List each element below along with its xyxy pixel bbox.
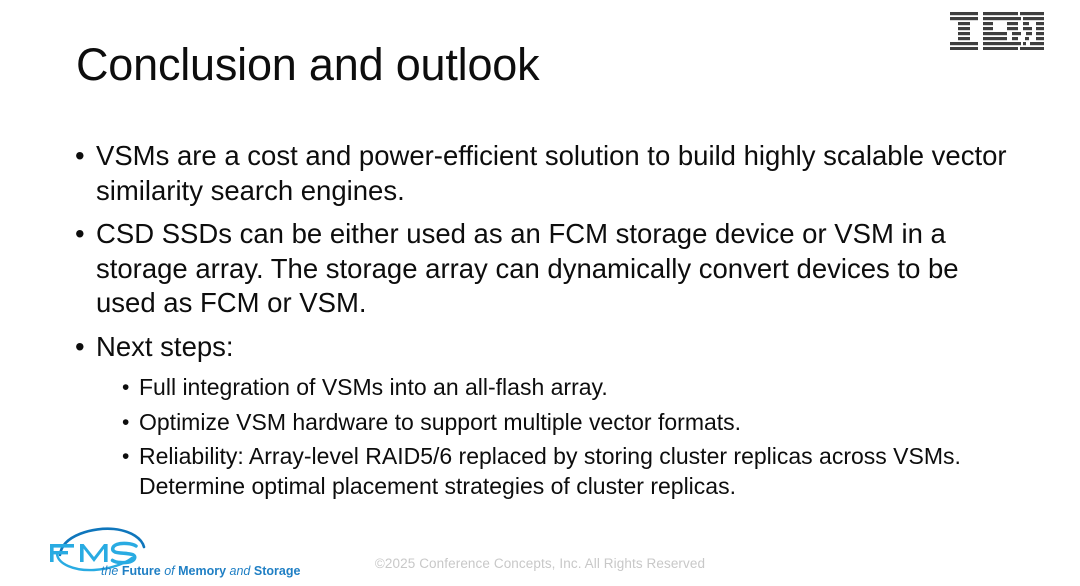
bullet-item: • VSMs are a cost and power-efficient so… xyxy=(70,139,1020,208)
slide-body: • VSMs are a cost and power-efficient so… xyxy=(70,139,1020,506)
bullet-text: CSD SSDs can be either used as an FCM st… xyxy=(96,218,959,318)
sub-bullet-item: • Full integration of VSMs into an all-f… xyxy=(70,373,1020,403)
page-title: Conclusion and outlook xyxy=(76,40,539,90)
sub-bullet-text: Reliability: Array-level RAID5/6 replace… xyxy=(139,443,961,499)
slide-canvas: Conclusion and outlook • VSMs are a cost… xyxy=(0,0,1080,586)
bullet-marker-icon: • xyxy=(75,330,85,365)
bullet-item: • CSD SSDs can be either used as an FCM … xyxy=(70,217,1020,321)
bullet-marker-icon: • xyxy=(75,139,85,174)
sub-bullet-item: • Optimize VSM hardware to support multi… xyxy=(70,408,1020,438)
copyright-text: ©2025 Conference Concepts, Inc. All Righ… xyxy=(0,556,1080,571)
sub-bullet-text: Full integration of VSMs into an all-fla… xyxy=(139,374,608,400)
bullet-marker-icon: • xyxy=(122,442,129,472)
bullet-marker-icon: • xyxy=(75,217,85,252)
sub-bullet-text: Optimize VSM hardware to support multipl… xyxy=(139,409,741,435)
bullet-item: • Next steps: xyxy=(70,330,1020,365)
bullet-text: VSMs are a cost and power-efficient solu… xyxy=(96,140,1007,206)
ibm-logo xyxy=(950,12,1044,50)
bullet-marker-icon: • xyxy=(122,408,129,438)
bullet-text: Next steps: xyxy=(96,331,234,362)
sub-bullet-item: • Reliability: Array-level RAID5/6 repla… xyxy=(70,442,1020,501)
sub-bullet-list: • Full integration of VSMs into an all-f… xyxy=(70,373,1020,501)
bullet-marker-icon: • xyxy=(122,373,129,403)
